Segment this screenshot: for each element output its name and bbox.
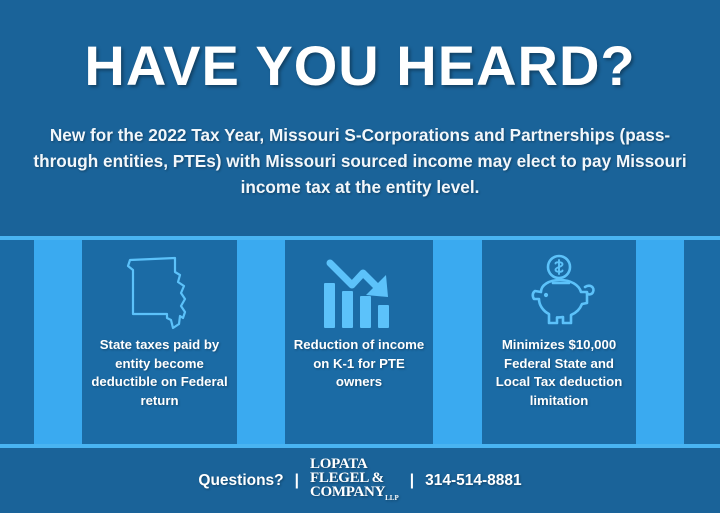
feature-card-text: State taxes paid by entity become deduct…: [82, 336, 237, 411]
header-section: HAVE YOU HEARD? New for the 2022 Tax Yea…: [0, 0, 720, 236]
feature-card-text: Minimizes $10,000 Federal State and Loca…: [482, 336, 636, 411]
footer-section: Questions? | LOPATA FLEGEL & COMPANYLLP …: [0, 448, 720, 513]
feature-band: State taxes paid by entity become deduct…: [0, 240, 720, 444]
footer-separator-right: |: [410, 472, 414, 490]
feature-card-income-reduction: Reduction of income on K-1 for PTE owner…: [285, 240, 433, 444]
band-edge-panel-left: [0, 240, 34, 444]
header-body-text: New for the 2022 Tax Year, Missouri S-Co…: [20, 122, 700, 200]
footer-content-row: Questions? | LOPATA FLEGEL & COMPANYLLP …: [0, 448, 720, 513]
feature-card-salt-limitation: Minimizes $10,000 Federal State and Loca…: [482, 240, 636, 444]
feature-card-state-taxes: State taxes paid by entity become deduct…: [82, 240, 237, 444]
declining-bar-chart-icon: [320, 240, 398, 336]
phone-number: 314-514-8881: [425, 472, 522, 490]
logo-line-3: COMPANY: [310, 484, 385, 500]
piggy-bank-icon: [517, 240, 601, 336]
company-logo: LOPATA FLEGEL & COMPANYLLP: [310, 458, 399, 503]
questions-label: Questions?: [198, 472, 283, 490]
page-headline: HAVE YOU HEARD?: [0, 38, 720, 94]
band-edge-panel-right: [684, 240, 720, 444]
infographic-page: HAVE YOU HEARD? New for the 2022 Tax Yea…: [0, 0, 720, 513]
logo-suffix: LLP: [385, 494, 399, 502]
missouri-state-map-icon: [123, 240, 197, 336]
footer-separator-left: |: [295, 472, 299, 490]
logo-line-3-wrap: COMPANYLLP: [310, 486, 399, 502]
feature-card-text: Reduction of income on K-1 for PTE owner…: [285, 336, 433, 392]
